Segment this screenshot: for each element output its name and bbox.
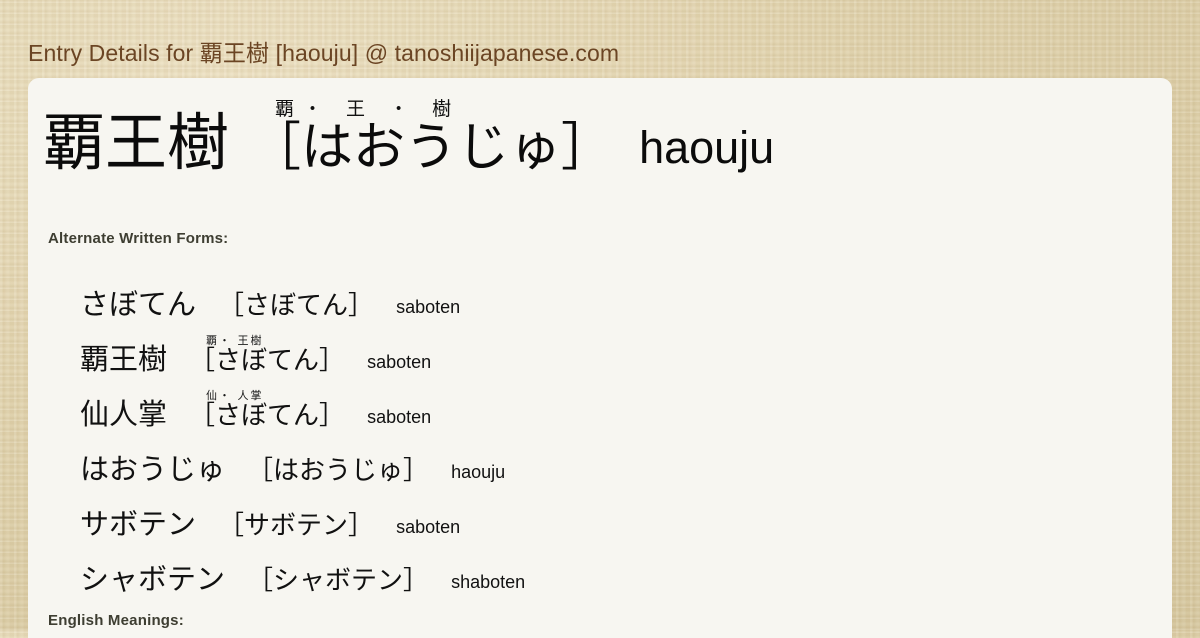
- headword-bracket-close: ］: [561, 118, 613, 178]
- alternate-form-romaji: shaboten: [451, 573, 525, 594]
- alternate-form-bracket-open: ［: [247, 566, 273, 596]
- alternate-form-word: 仙人掌: [80, 400, 167, 429]
- alternate-form-reading-group: ［サボテン］: [218, 500, 374, 539]
- alternate-form-word: シャボテン: [80, 565, 225, 594]
- alternate-form-bracket-close: ］: [319, 401, 345, 431]
- alternate-form-bracket-close: ］: [403, 566, 429, 596]
- alternate-form-romaji: saboten: [367, 408, 431, 429]
- alternate-form-word: さぼてん: [80, 290, 196, 319]
- alternate-form-bracket-open: ［: [218, 291, 244, 321]
- page-title: Entry Details for 覇王樹 [haouju] @ tanoshi…: [28, 34, 619, 68]
- alternate-form-row[interactable]: 仙人掌仙・ 人掌［さぼてん］saboten: [80, 374, 1160, 429]
- headword: 覇王樹 覇・ 王 ・ 樹 ［はおうじゅ］ haouju: [43, 100, 774, 174]
- alternate-form-row[interactable]: はおうじゅ［はおうじゅ］haouju: [80, 429, 1160, 484]
- alternate-form-row[interactable]: さぼてん［さぼてん］saboten: [80, 264, 1160, 319]
- alternate-form-word: サボテン: [80, 510, 196, 539]
- alternate-form-row[interactable]: シャボテン［シャボテン］shaboten: [80, 539, 1160, 594]
- alternate-form-reading-group: ［はおうじゅ］: [247, 445, 429, 484]
- alternate-form-ruby: 仙・ 人掌: [206, 390, 264, 401]
- alternate-form-romaji: saboten: [396, 298, 460, 319]
- english-meanings-label: English Meanings:: [48, 612, 184, 629]
- alternate-form-reading: さぼてん: [215, 346, 319, 376]
- alternate-form-bracket-open: ［: [189, 401, 215, 431]
- alternate-form-reading-group: 仙・ 人掌［さぼてん］: [189, 390, 345, 429]
- alternate-form-row[interactable]: 覇王樹覇・ 王樹［さぼてん］saboten: [80, 319, 1160, 374]
- alternate-form-reading-group: ［シャボテン］: [247, 555, 429, 594]
- alternate-form-bracket-close: ］: [403, 456, 429, 486]
- headword-bracket-open: ［: [249, 118, 301, 178]
- alternate-form-romaji: saboten: [396, 518, 460, 539]
- headword-romaji: haouju: [639, 125, 774, 174]
- alternate-form-word: はおうじゅ: [80, 455, 225, 484]
- alternate-form-bracket-close: ］: [348, 291, 374, 321]
- alternate-form-bracket-open: ［: [218, 511, 244, 541]
- alternate-form-bracket-close: ］: [319, 346, 345, 376]
- headword-reading-group: 覇・ 王 ・ 樹 ［はおうじゅ］: [249, 100, 613, 174]
- alternate-form-bracket-open: ［: [189, 346, 215, 376]
- alternate-form-romaji: saboten: [367, 353, 431, 374]
- alternate-forms-label: Alternate Written Forms:: [48, 230, 228, 247]
- alternate-form-reading: さぼてん: [244, 291, 348, 321]
- alternate-form-bracket-open: ［: [247, 456, 273, 486]
- headword-reading: はおうじゅ: [301, 118, 561, 178]
- alternate-form-row[interactable]: サボテン［サボテン］saboten: [80, 484, 1160, 539]
- alternate-form-reading: はおうじゅ: [273, 456, 403, 486]
- alternate-form-ruby: 覇・ 王樹: [206, 335, 264, 346]
- alternate-form-reading: サボテン: [244, 511, 348, 541]
- alternate-form-reading-group: 覇・ 王樹［さぼてん］: [189, 335, 345, 374]
- entry-content-panel: 覇王樹 覇・ 王 ・ 樹 ［はおうじゅ］ haouju Alternate Wr…: [28, 78, 1172, 638]
- alternate-form-romaji: haouju: [451, 463, 505, 484]
- alternate-form-reading: さぼてん: [215, 401, 319, 431]
- alternate-forms-list: さぼてん［さぼてん］saboten覇王樹覇・ 王樹［さぼてん］saboten仙人…: [80, 264, 1160, 594]
- headword-kanji: 覇王樹: [43, 112, 229, 174]
- alternate-form-bracket-close: ］: [348, 511, 374, 541]
- headword-ruby: 覇・ 王 ・ 樹: [275, 100, 460, 119]
- alternate-form-word: 覇王樹: [80, 345, 167, 374]
- alternate-form-reading: シャボテン: [273, 566, 403, 596]
- alternate-form-reading-group: ［さぼてん］: [218, 280, 374, 319]
